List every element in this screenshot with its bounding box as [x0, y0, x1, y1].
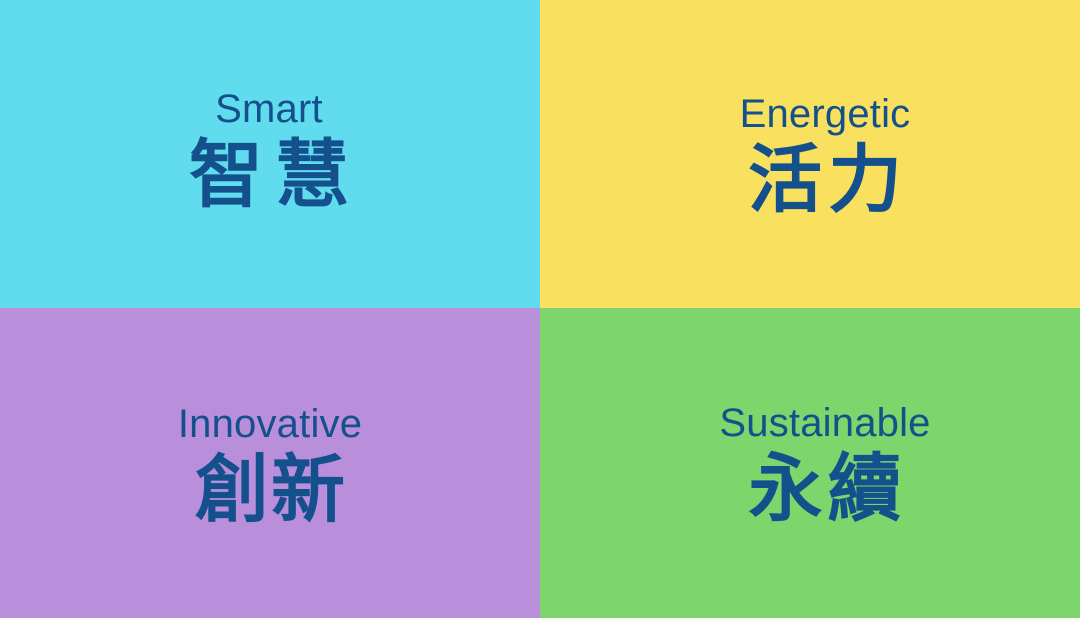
quadrant-innovative[interactable]: Innovative 創新: [0, 308, 540, 618]
quadrant-energetic-label-en: Energetic: [740, 94, 911, 134]
quadrant-sustainable-text: Sustainable 永續: [719, 403, 930, 526]
quadrant-smart[interactable]: Smart 智慧: [0, 0, 540, 308]
brand-values-canvas: Smart 智慧 Energetic 活力 Innovative 創新 Sust…: [0, 0, 1080, 618]
quadrant-innovative-label-en: Innovative: [178, 404, 362, 444]
quadrant-energetic-label-zh: 活力: [740, 143, 911, 217]
quadrant-innovative-label-zh: 創新: [178, 453, 362, 527]
quadrant-sustainable-label-zh: 永續: [719, 452, 930, 526]
quadrant-sustainable[interactable]: Sustainable 永續: [540, 308, 1080, 618]
quadrant-innovative-text: Innovative 創新: [178, 404, 362, 527]
quadrant-grid: Smart 智慧 Energetic 活力 Innovative 創新 Sust…: [0, 0, 1080, 618]
quadrant-smart-label-zh: 智慧: [177, 138, 361, 212]
quadrant-sustainable-label-en: Sustainable: [719, 403, 930, 443]
quadrant-smart-label-en: Smart: [177, 89, 361, 129]
quadrant-smart-text: Smart 智慧: [177, 89, 361, 212]
quadrant-energetic-text: Energetic 活力: [740, 94, 911, 217]
quadrant-energetic[interactable]: Energetic 活力: [540, 0, 1080, 308]
